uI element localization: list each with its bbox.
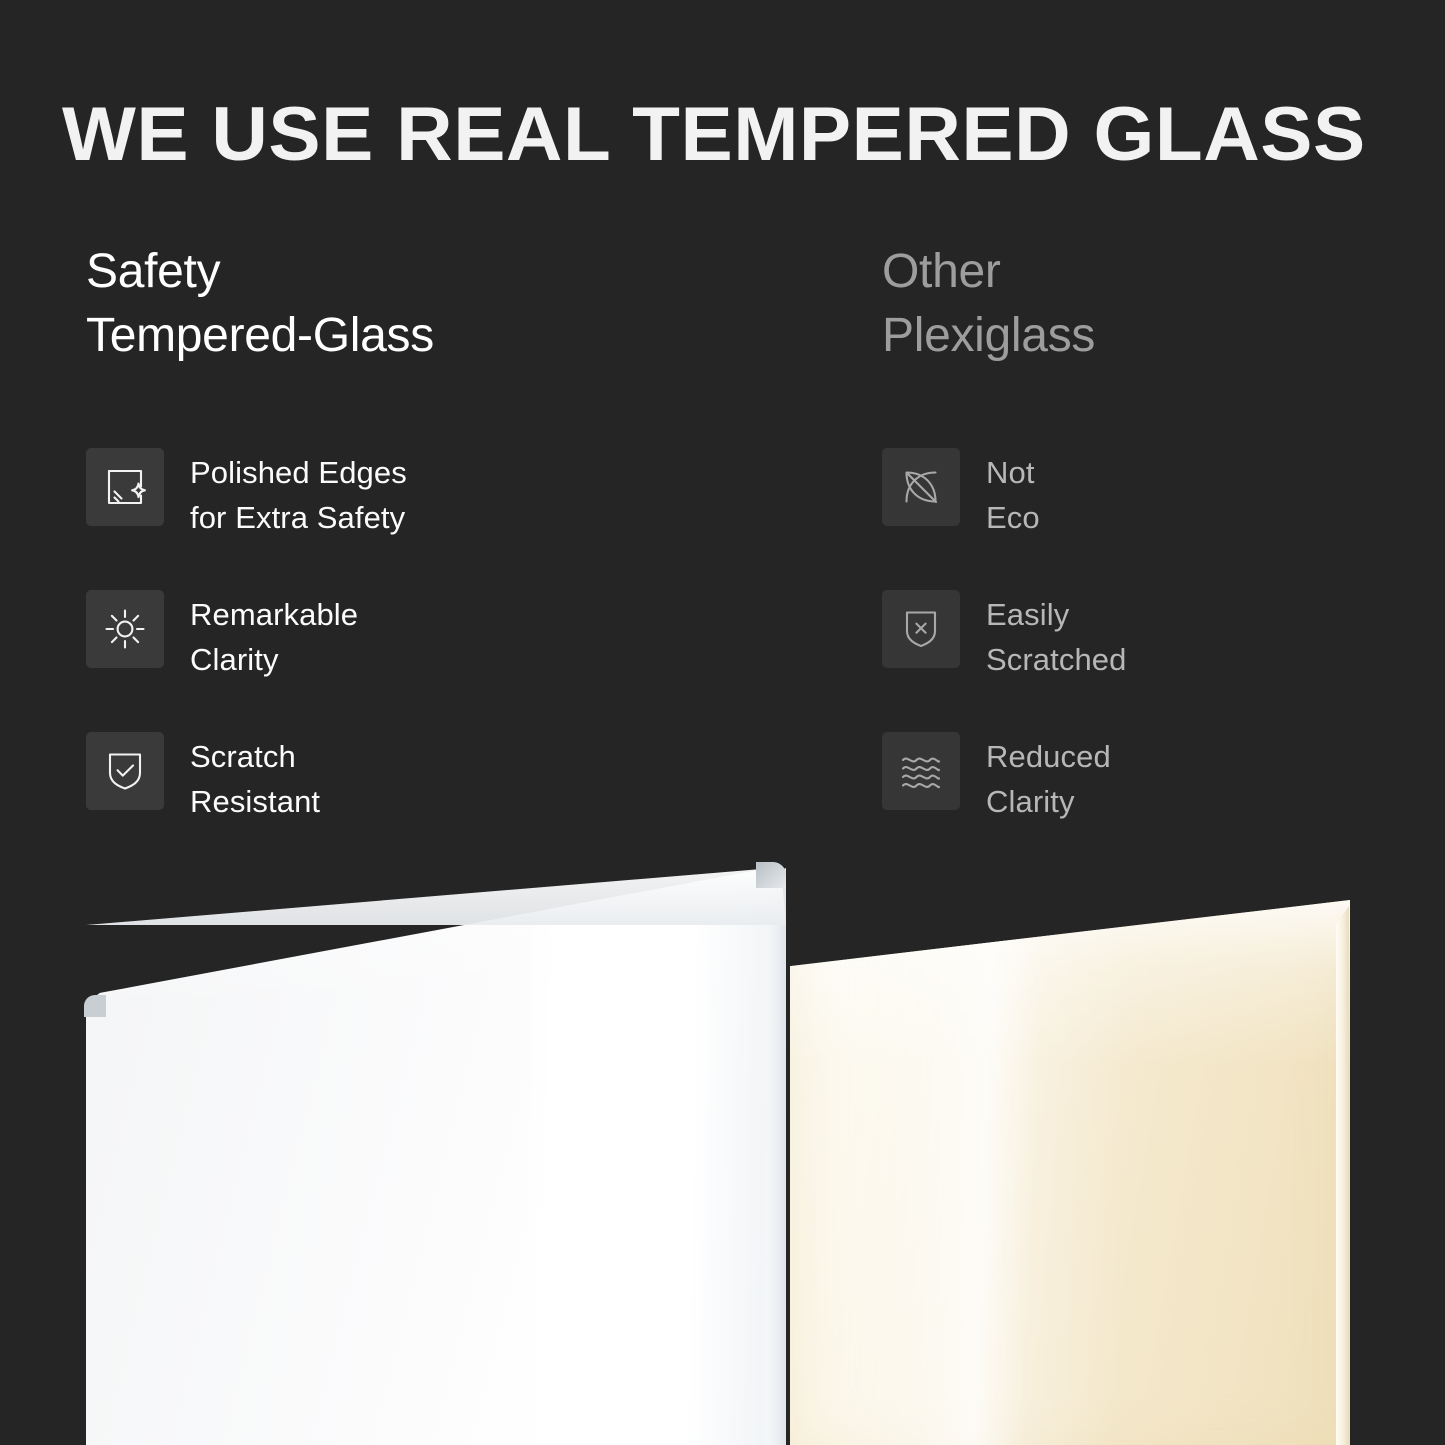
feature-row-not-eco: Not Eco bbox=[882, 448, 1442, 590]
feature-row-polished-edges: Polished Edges for Extra Safety bbox=[86, 448, 646, 590]
column-title-right: Other Plexiglass bbox=[882, 240, 1442, 368]
feature-label: Easily Scratched bbox=[986, 592, 1126, 682]
sun-clarity-icon bbox=[86, 590, 164, 668]
feature-row-easily-scratched: Easily Scratched bbox=[882, 590, 1442, 732]
tempered-glass-panel-edge bbox=[760, 868, 786, 1445]
feature-list-left: Polished Edges for Extra Safety bbox=[86, 448, 646, 874]
column-other-plexiglass: Other Plexiglass Not Eco bbox=[882, 240, 1442, 368]
shield-x-icon bbox=[882, 590, 960, 668]
feature-label: Not Eco bbox=[986, 450, 1040, 540]
feature-label: Polished Edges for Extra Safety bbox=[190, 450, 407, 540]
feature-label: Scratch Resistant bbox=[190, 734, 320, 824]
leaf-crossed-out-icon bbox=[882, 448, 960, 526]
plexiglass-panel-sheen bbox=[790, 900, 1350, 1445]
tempered-glass-panel-corner-left bbox=[84, 995, 106, 1017]
feature-list-right: Not Eco Easily Scratched bbox=[882, 448, 1442, 874]
tempered-glass-panel-corner-right bbox=[756, 862, 786, 888]
feature-label: Remarkable Clarity bbox=[190, 592, 358, 682]
glass-panels-illustration bbox=[0, 840, 1445, 1445]
page-title: WE USE REAL TEMPERED GLASS bbox=[62, 93, 1432, 177]
shield-check-icon bbox=[86, 732, 164, 810]
feature-label: Reduced Clarity bbox=[986, 734, 1111, 824]
plexiglass-panel-edge bbox=[1336, 906, 1349, 1445]
tempered-glass-panel-top-edge bbox=[86, 865, 786, 925]
tempered-glass-comparison-graphic: WE USE REAL TEMPERED GLASS Safety Temper… bbox=[0, 0, 1445, 1445]
polished-glass-pane-sparkle-icon bbox=[86, 448, 164, 526]
wavy-lines-icon bbox=[882, 732, 960, 810]
tempered-glass-panel-sheen bbox=[86, 865, 786, 1445]
column-title-left: Safety Tempered-Glass bbox=[86, 240, 646, 368]
feature-row-remarkable-clarity: Remarkable Clarity bbox=[86, 590, 646, 732]
column-safety-tempered-glass: Safety Tempered-Glass Polished Edges for… bbox=[86, 240, 646, 368]
